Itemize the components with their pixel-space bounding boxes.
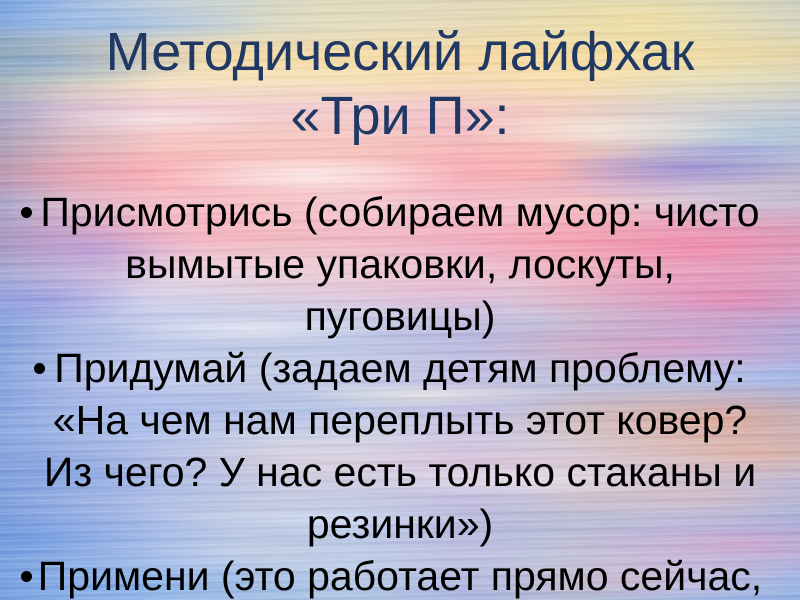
bullet-marker-icon: [21, 207, 32, 218]
bullet-item-prismotris: Присмотрись (собираем мусор: чисто вымыт…: [0, 186, 800, 342]
slide-content: Методический лайфхак «Три П»: Присмотрис…: [0, 0, 800, 600]
bullet-line: «На чем нам переплыть этот ковер?: [8, 394, 792, 446]
bullet-line: Придумай (задаем детям проблему:: [8, 342, 792, 394]
bullet-line: Примени (это работает прямо сейчас,: [8, 550, 792, 600]
bullet-line: вымытые упаковки, лоскуты,: [8, 238, 792, 290]
slide-body: Присмотрись (собираем мусор: чисто вымыт…: [0, 186, 800, 600]
bullet-marker-icon: [34, 363, 45, 374]
bullet-line: резинки»): [8, 498, 792, 550]
slide-canvas: Методический лайфхак «Три П»: Присмотрис…: [0, 0, 800, 600]
slide-title: Методический лайфхак «Три П»:: [0, 20, 800, 148]
bullet-line: пуговицы): [8, 290, 792, 342]
bullet-item-pridumay: Придумай (задаем детям проблему: «На чем…: [0, 342, 800, 550]
title-line-2: «Три П»:: [0, 84, 800, 148]
bullet-item-primeni: Примени (это работает прямо сейчас,: [0, 550, 800, 600]
bullet-line: Присмотрись (собираем мусор: чисто: [8, 186, 792, 238]
title-line-1: Методический лайфхак: [0, 20, 800, 84]
bullet-marker-icon: [21, 571, 32, 582]
bullet-line: Из чего? У нас есть только стаканы и: [8, 446, 792, 498]
